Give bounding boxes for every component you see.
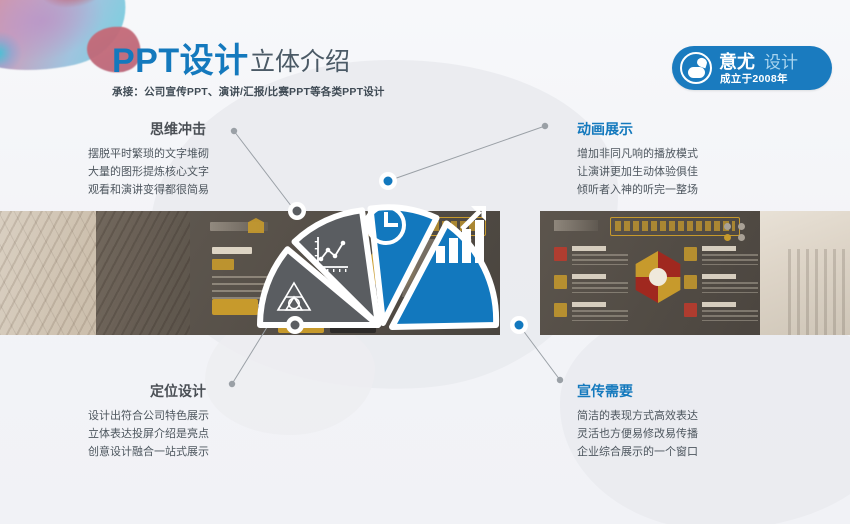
callout-line: 创意设计融合一站式展示 <box>88 443 209 461</box>
logo-tagline: 成立于2008年 <box>720 74 788 85</box>
thumb-row-5 <box>684 273 760 295</box>
callout-title: 定位设计 <box>88 384 209 398</box>
callout-xuanchuan: 宣传需要 简洁的表现方式高效表达 灵活也方便易修改易传播 企业综合展示的一个窗口 <box>577 384 698 461</box>
logo-name-light: 设计 <box>764 54 798 71</box>
callout-line: 增加非同凡响的播放模式 <box>577 145 698 163</box>
thumb-row-3 <box>554 301 630 323</box>
semicircle-fan-diagram <box>240 155 560 345</box>
callout-line: 设计出符合公司特色展示 <box>88 407 209 425</box>
callout-title: 思维冲击 <box>88 122 209 136</box>
thumb-row-1 <box>554 245 630 267</box>
thumb-logo-right <box>554 220 598 231</box>
callout-line: 立体表达投屏介绍是亮点 <box>88 425 209 443</box>
callout-donghua: 动画展示 增加非同凡响的播放模式 让演讲更加生动体验俱佳 倾听者入神的听完一整场 <box>577 122 698 199</box>
callout-line: 企业综合展示的一个窗口 <box>577 443 698 461</box>
page-title: PPT设计 <box>112 44 249 78</box>
thumb-dot-group <box>724 223 758 241</box>
slide-canvas: PPT设计 立体介绍 承接：公司宣传PPT、演讲/汇报/比赛PPT等各类PPT设… <box>0 0 850 524</box>
callout-line: 灵活也方便易修改易传播 <box>577 425 698 443</box>
brand-logo[interactable]: 意尤 设计 成立于2008年 <box>672 46 832 90</box>
logo-name-bold: 意尤 <box>719 53 755 71</box>
callout-line: 倾听者入神的听完一整场 <box>577 181 698 199</box>
thumb-ribbon-right <box>610 217 740 236</box>
thumb-row-2 <box>554 273 630 295</box>
page-subtitle: 立体介绍 <box>250 50 350 75</box>
header: PPT设计 立体介绍 承接：公司宣传PPT、演讲/汇报/比赛PPT等各类PPT设… <box>0 0 850 118</box>
callout-title: 宣传需要 <box>577 384 698 398</box>
thumb-hexagon-diagram <box>632 251 684 303</box>
callout-dingwei: 定位设计 设计出符合公司特色展示 立体表达投屏介绍是亮点 创意设计融合一站式展示 <box>88 384 209 461</box>
callout-line: 摆脱平时繁琐的文字堆砌 <box>88 145 209 163</box>
mouse-circle-icon <box>680 52 712 84</box>
slide-thumbnail-right <box>540 211 768 335</box>
building-photo-right <box>760 211 850 335</box>
callout-line: 简洁的表现方式高效表达 <box>577 407 698 425</box>
thumb-row-4 <box>684 245 760 267</box>
page-description: 承接：公司宣传PPT、演讲/汇报/比赛PPT等各类PPT设计 <box>112 84 385 99</box>
thumb-row-6 <box>684 301 760 323</box>
thumb-number-badge <box>212 259 234 270</box>
callout-title: 动画展示 <box>577 122 698 136</box>
callout-line: 观看和演讲变得都很简易 <box>88 181 209 199</box>
callout-line: 大量的图形提炼核心文字 <box>88 163 209 181</box>
callout-line: 让演讲更加生动体验俱佳 <box>577 163 698 181</box>
callout-siwei: 思维冲击 摆脱平时繁琐的文字堆砌 大量的图形提炼核心文字 观看和演讲变得都很简易 <box>88 122 209 199</box>
